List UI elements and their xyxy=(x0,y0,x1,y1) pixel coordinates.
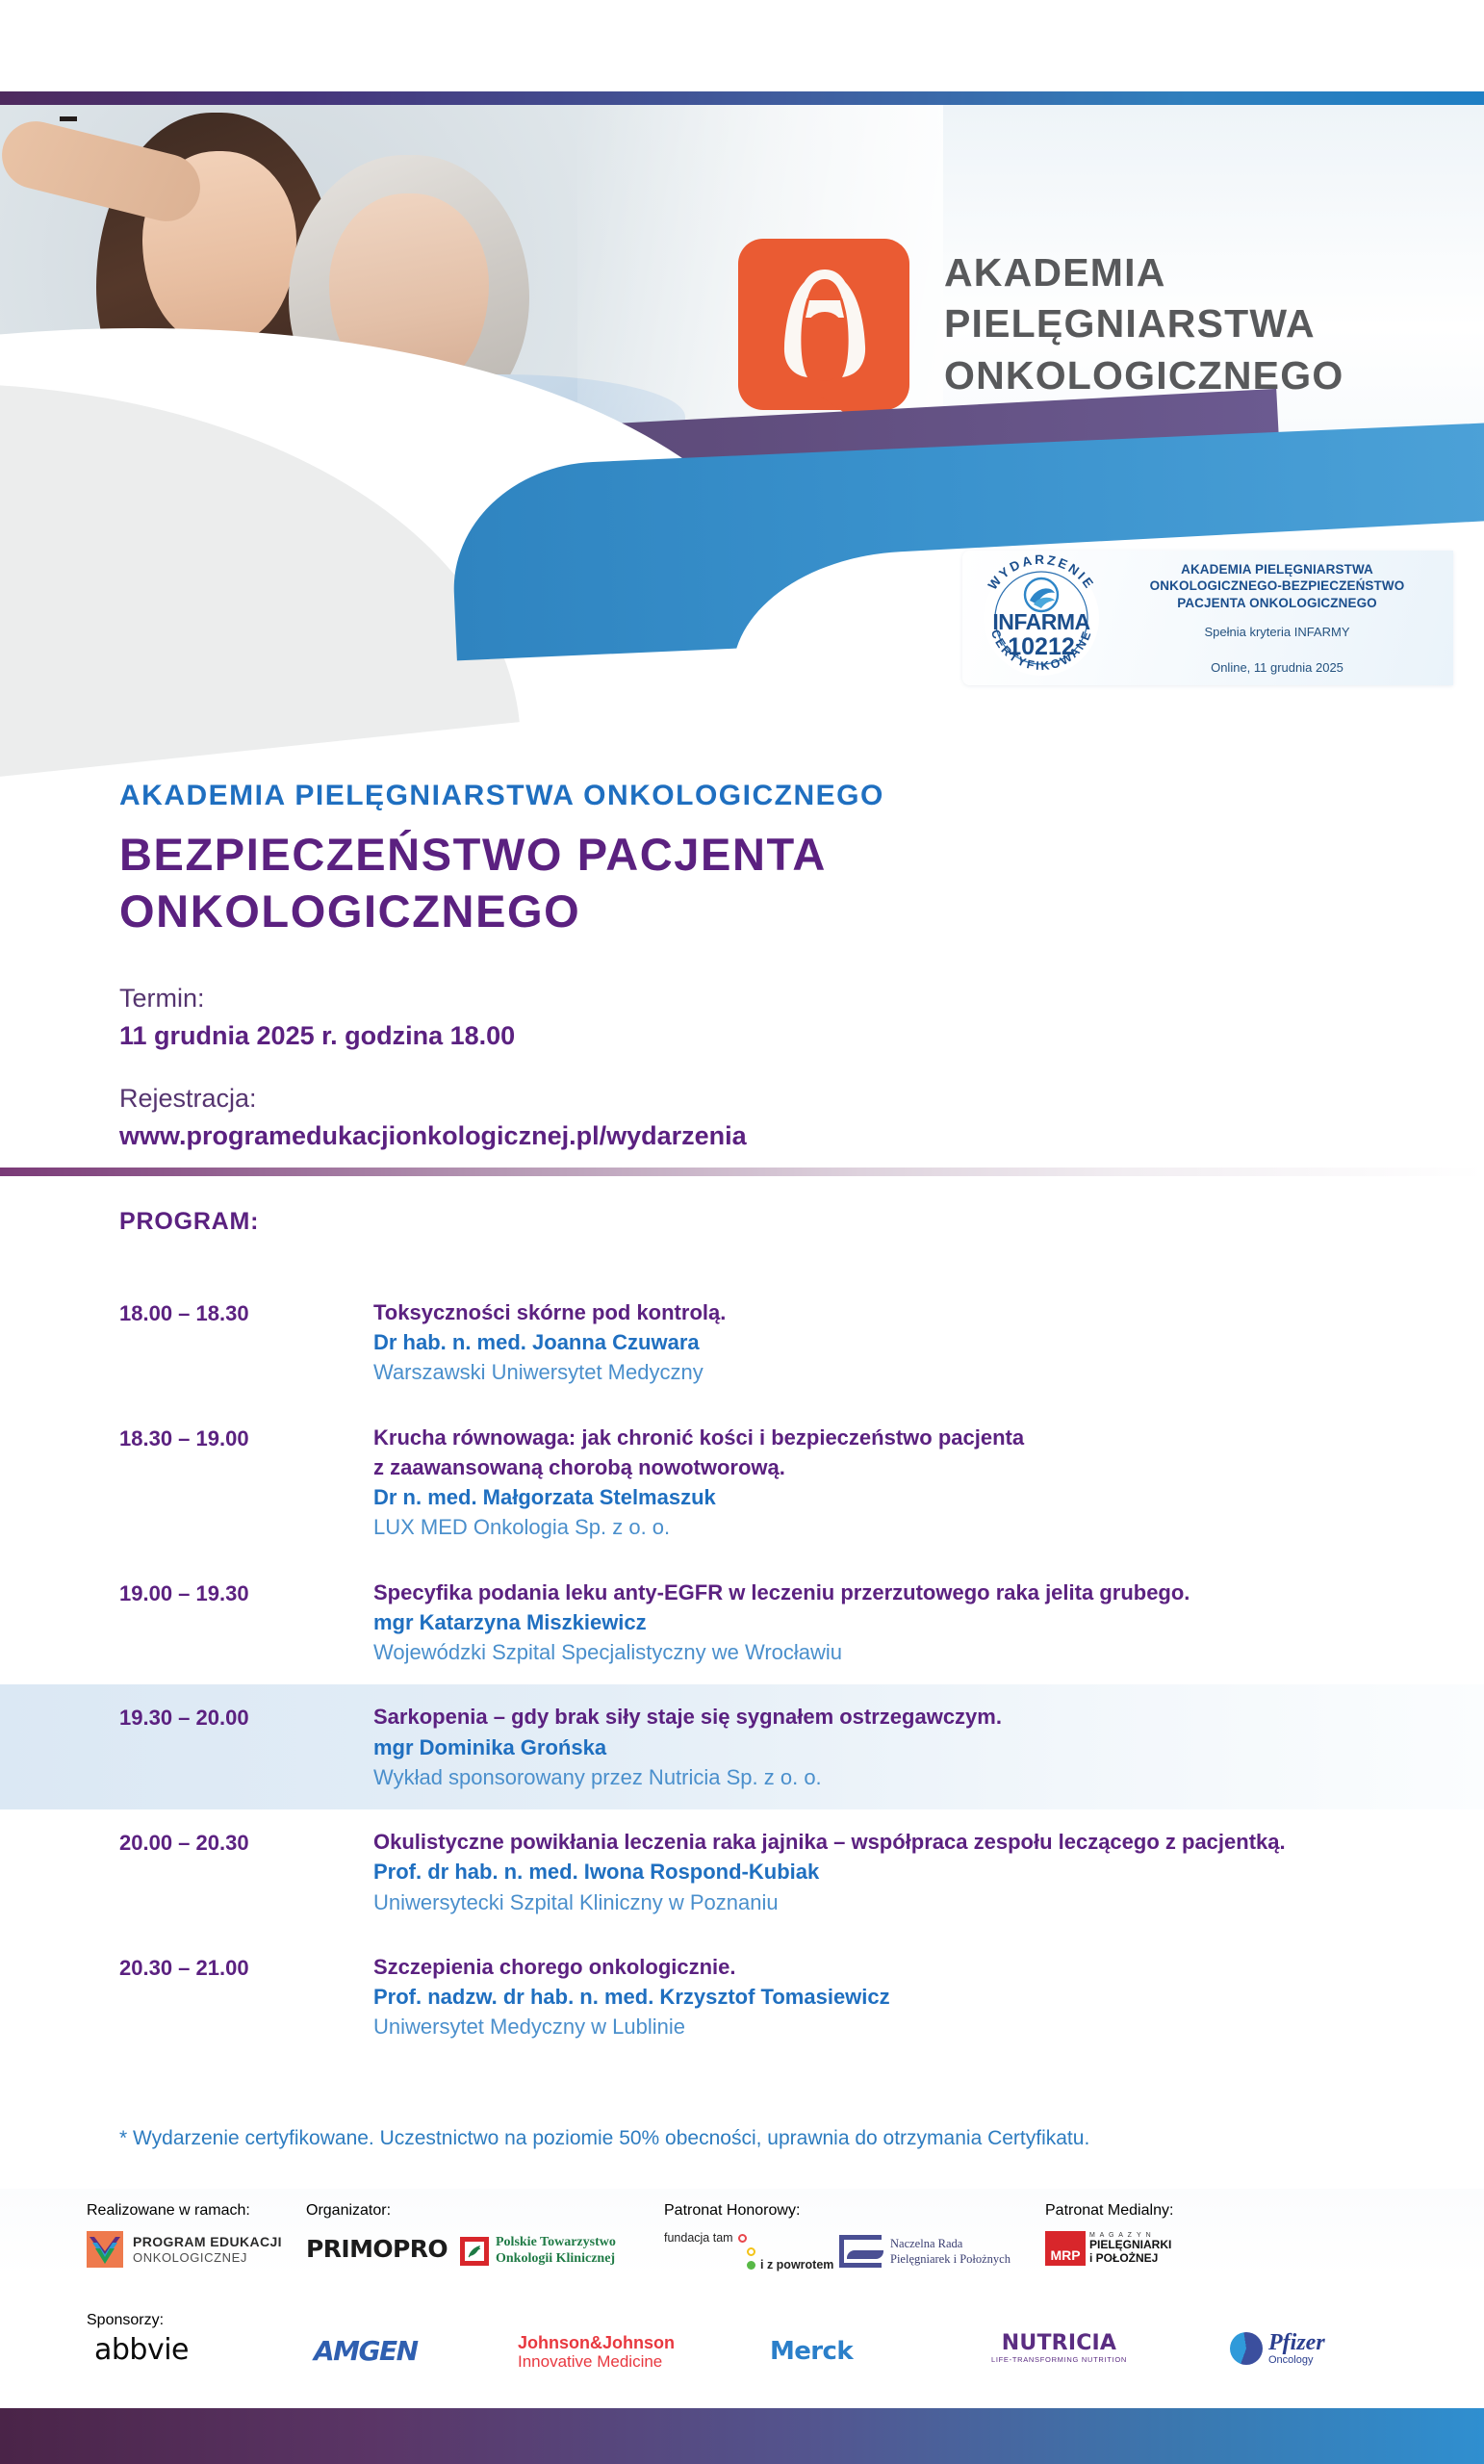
slot-topic: Toksyczności skórne pod kontrolą. xyxy=(373,1297,1426,1327)
program-slot: 19.00 – 19.30Specyfika podania leku anty… xyxy=(0,1560,1484,1685)
sponsors-caption: Sponsorzy: xyxy=(87,2312,164,2329)
abbvie-logo: abbvie xyxy=(94,2333,189,2367)
registration-label: Rejestracja: xyxy=(119,1080,1178,1117)
slot-topic: Okulistyczne powikłania leczenia raka ja… xyxy=(373,1827,1426,1857)
slot-affiliation: Uniwersytet Medyczny w Lublinie xyxy=(373,2012,1426,2041)
slot-topic: Szczepienia chorego onkologicznie. xyxy=(373,1952,1426,1982)
pfizer-wordmark: Pfizer xyxy=(1268,2331,1325,2355)
slot-time: 18.30 – 19.00 xyxy=(119,1423,373,1543)
slot-speaker: Dr hab. n. med. Joanna Czuwara xyxy=(373,1327,1426,1357)
certification-footnote: * Wydarzenie certyfikowane. Uczestnictwo… xyxy=(119,2127,1089,2150)
pfizer-mark-icon xyxy=(1230,2332,1263,2365)
fundacja-line2-row: i z powrotem xyxy=(747,2256,833,2274)
footer-row-partners: Realizowane w ramach: PROGRAM EDUKACJI O… xyxy=(0,2202,1484,2308)
page-kicker: AKADEMIA PIELĘGNIARSTWA ONKOLOGICZNEGO xyxy=(119,780,884,812)
fundacja-tam-i-z-powrotem-logo: fundacja tam i z powrotem xyxy=(664,2229,833,2274)
svg-text:10212: 10212 xyxy=(1008,633,1075,660)
infarma-certificate-badge: WYDARZENIE CERTYFIKOWANE INFARMA 10212 A… xyxy=(962,551,1453,685)
peo-text: PROGRAM EDUKACJI ONKOLOGICZNEJ xyxy=(133,2234,282,2265)
date-value: 11 grudnia 2025 r. godzina 18.00 xyxy=(119,1017,1178,1055)
slot-time: 18.00 – 18.30 xyxy=(119,1297,373,1388)
program-slot: 18.00 – 18.30Toksyczności skórne pod kon… xyxy=(0,1280,1484,1405)
mrp-logo: MRP M A G A Z Y N PIELĘGNIARKI i POŁOŻNE… xyxy=(1045,2231,1171,2266)
pfizer-sub: Oncology xyxy=(1268,2355,1325,2367)
program-slot: 19.30 – 20.00Sarkopenia – gdy brak siły … xyxy=(0,1684,1484,1809)
slot-body: Krucha równowaga: jak chronić kości i be… xyxy=(373,1423,1484,1543)
slot-affiliation: LUX MED Onkologia Sp. z o. o. xyxy=(373,1512,1426,1542)
section-divider xyxy=(0,1168,1484,1176)
brand-title: AKADEMIA PIELĘGNIARSTWA ONKOLOGICZNEGO xyxy=(944,247,1343,401)
slot-time: 19.00 – 19.30 xyxy=(119,1578,373,1668)
primopro-logo: PRIMOPRO xyxy=(306,2235,448,2263)
slot-time: 20.30 – 21.00 xyxy=(119,1952,373,2042)
certificate-when: Online, 11 grudnia 2025 xyxy=(1126,660,1428,675)
slot-speaker: mgr Dominika Grońska xyxy=(373,1732,1426,1762)
slot-body: Szczepienia chorego onkologicznie.Prof. … xyxy=(373,1952,1484,2042)
nurse-silhouette-icon xyxy=(771,264,879,387)
mrp-main: PIELĘGNIARKI i POŁOŻNEJ xyxy=(1089,2239,1171,2265)
yellow-dot-icon xyxy=(747,2247,755,2256)
footer-row-sponsors: Sponsorzy: abbvie AMGEN Johnson&Johnson … xyxy=(0,2312,1484,2408)
slot-affiliation: Wykład sponsorowany przez Nutricia Sp. z… xyxy=(373,1762,1426,1792)
fundacja-line2: i z powrotem xyxy=(760,2256,833,2274)
peo-mark-icon xyxy=(87,2231,123,2268)
ptok-mark-icon xyxy=(460,2237,489,2266)
mrp-mark-icon: MRP xyxy=(1045,2231,1086,2266)
peo-line1: PROGRAM EDUKACJI xyxy=(133,2234,282,2250)
media-caption: Patronat Medialny: xyxy=(1045,2202,1173,2220)
certificate-criteria: Spełnia kryteria INFARMY xyxy=(1126,625,1428,639)
johnson-and-johnson-logo: Johnson&Johnson Innovative Medicine xyxy=(518,2333,675,2371)
slot-speaker: Prof. dr hab. n. med. Iwona Rospond-Kubi… xyxy=(373,1857,1426,1886)
certificate-heading: AKADEMIA PIELĘGNIARSTWA ONKOLOGICZNEGO-B… xyxy=(1126,561,1428,611)
red-dot-icon xyxy=(738,2234,747,2243)
mrp-text: M A G A Z Y N PIELĘGNIARKI i POŁOŻNEJ xyxy=(1089,2232,1171,2266)
bottom-gradient-bar xyxy=(0,2408,1484,2464)
nutricia-logo: NUTRICIA LIFE-TRANSFORMING NUTRITION xyxy=(991,2331,1127,2364)
slot-topic: Sarkopenia – gdy brak siły staje się syg… xyxy=(373,1702,1426,1732)
slot-speaker: Dr n. med. Małgorzata Stelmaszuk xyxy=(373,1482,1426,1512)
program-slot: 20.00 – 20.30Okulistyczne powikłania lec… xyxy=(0,1809,1484,1935)
slot-body: Okulistyczne powikłania leczenia raka ja… xyxy=(373,1827,1484,1917)
date-label: Termin: xyxy=(119,980,1178,1017)
registration-url[interactable]: www.programedukacjionkologicznej.pl/wyda… xyxy=(119,1117,1178,1155)
program-edukacji-onkologicznej-logo: PROGRAM EDUKACJI ONKOLOGICZNEJ xyxy=(87,2231,282,2268)
slot-affiliation: Warszawski Uniwersytet Medyczny xyxy=(373,1357,1426,1387)
program-slot: 20.30 – 21.00Szczepienia chorego onkolog… xyxy=(0,1935,1484,2060)
nrpip-mark-icon xyxy=(839,2235,882,2268)
pfizer-text: Pfizer Oncology xyxy=(1268,2331,1325,2367)
nutricia-tagline: LIFE-TRANSFORMING NUTRITION xyxy=(991,2355,1127,2364)
nrpip-text: Naczelna Rada Pielęgniarek i Położnych xyxy=(890,2236,1011,2268)
program-heading: PROGRAM: xyxy=(119,1208,259,1236)
brand-lockup: AKADEMIA PIELĘGNIARSTWA ONKOLOGICZNEGO xyxy=(738,239,1343,410)
framework-caption: Realizowane w ramach: xyxy=(87,2202,250,2220)
program-slot: 18.30 – 19.00Krucha równowaga: jak chron… xyxy=(0,1405,1484,1560)
certificate-text: AKADEMIA PIELĘGNIARSTWA ONKOLOGICZNEGO-B… xyxy=(1126,561,1453,675)
nutricia-wordmark: NUTRICIA xyxy=(991,2331,1127,2355)
footer: Realizowane w ramach: PROGRAM EDUKACJI O… xyxy=(0,2189,1484,2408)
peo-line2: ONKOLOGICZNEJ xyxy=(133,2250,282,2265)
ptok-text: Polskie Towarzystwo Onkologii Klinicznej xyxy=(496,2235,616,2268)
meta-spacer xyxy=(119,1055,1178,1080)
page-title: BEZPIECZEŃSTWO PACJENTA ONKOLOGICZNEGO xyxy=(119,826,1082,939)
organizer-caption: Organizator: xyxy=(306,2202,391,2220)
pfizer-oncology-logo: Pfizer Oncology xyxy=(1230,2331,1325,2367)
slot-speaker: Prof. nadzw. dr hab. n. med. Krzysztof T… xyxy=(373,1982,1426,2012)
jnj-line1: Johnson&Johnson xyxy=(518,2333,675,2352)
nurse-speech-bubble-icon xyxy=(738,239,909,410)
slot-time: 19.30 – 20.00 xyxy=(119,1702,373,1792)
slot-topic: Specyfika podania leku anty-EGFR w lecze… xyxy=(373,1578,1426,1607)
fundacja-line1: fundacja tam xyxy=(664,2229,733,2247)
slot-affiliation: Uniwersytecki Szpital Kliniczny w Poznan… xyxy=(373,1887,1426,1917)
infarma-seal-icon: WYDARZENIE CERTYFIKOWANE INFARMA 10212 xyxy=(964,541,1118,695)
slot-time: 20.00 – 20.30 xyxy=(119,1827,373,1917)
fundacja-dot-row xyxy=(747,2247,833,2256)
slot-topic: Krucha równowaga: jak chronić kości i be… xyxy=(373,1423,1426,1482)
slot-body: Toksyczności skórne pod kontrolą.Dr hab.… xyxy=(373,1297,1484,1388)
svg-text:INFARMA: INFARMA xyxy=(992,609,1089,634)
honorary-caption: Patronat Honorowy: xyxy=(664,2202,800,2220)
program-list: 18.00 – 18.30Toksyczności skórne pod kon… xyxy=(0,1280,1484,2059)
event-meta: Termin: 11 grudnia 2025 r. godzina 18.00… xyxy=(119,980,1178,1155)
slot-body: Sarkopenia – gdy brak siły staje się syg… xyxy=(373,1702,1484,1792)
slot-affiliation: Wojewódzki Szpital Specjalistyczny we Wr… xyxy=(373,1637,1426,1667)
event-poster: AKADEMIA PIELĘGNIARSTWA ONKOLOGICZNEGO W… xyxy=(0,0,1484,2464)
amgen-logo: AMGEN xyxy=(314,2335,418,2367)
slot-speaker: mgr Katarzyna Miszkiewicz xyxy=(373,1607,1426,1637)
nrpip-logo: Naczelna Rada Pielęgniarek i Położnych xyxy=(839,2235,1011,2268)
ptok-logo: Polskie Towarzystwo Onkologii Klinicznej xyxy=(460,2235,616,2268)
fundacja-line1-row: fundacja tam xyxy=(664,2229,833,2247)
top-gradient-bar xyxy=(0,91,1484,105)
jnj-line2: Innovative Medicine xyxy=(518,2352,675,2371)
green-dot-icon xyxy=(747,2261,755,2270)
merck-logo: Merck xyxy=(770,2337,853,2366)
slot-body: Specyfika podania leku anty-EGFR w lecze… xyxy=(373,1578,1484,1668)
